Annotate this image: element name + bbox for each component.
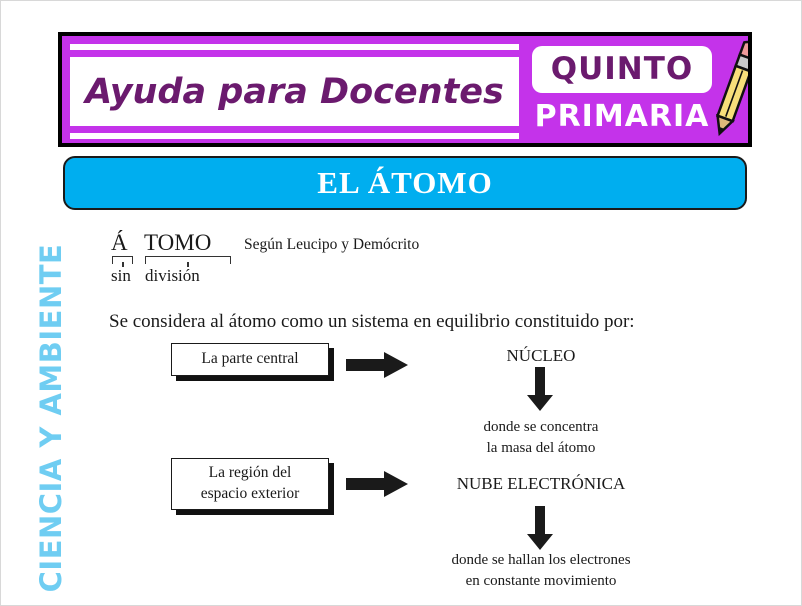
flow-box-region-exterior: La región del espacio exterior: [171, 458, 329, 510]
brand-title: Ayuda para Docentes: [70, 44, 519, 139]
intro-text: Se considera al átomo como un sistema en…: [109, 311, 635, 333]
flow-box-parte-central: La parte central: [171, 343, 329, 376]
caption-line-2: en constante movimiento: [401, 571, 681, 592]
caption-line-2: la masa del átomo: [421, 438, 661, 459]
etymology-gloss-root: división: [145, 267, 200, 284]
brand-plate: Ayuda para Docentes: [70, 44, 519, 139]
etymology-group: Á TOMO sin división: [111, 231, 236, 283]
flow-box-line-2: espacio exterior: [201, 484, 300, 505]
node-label-nube-electronica: NUBE ELECTRÓNICA: [441, 474, 641, 494]
etymology-note: Según Leucipo y Demócrito: [244, 236, 419, 254]
grade-main-label: QUINTO: [551, 54, 694, 85]
grade-pill: QUINTO: [532, 46, 712, 93]
node-label-nucleo: NÚCLEO: [441, 346, 641, 366]
caption-line-1: donde se concentra: [421, 417, 661, 438]
grade-sub-label: PRIMARIA: [526, 94, 718, 140]
page-title-bar: EL ÁTOMO: [63, 156, 747, 210]
flow-box-line-1: La región del: [201, 463, 300, 484]
node-caption-nube-electronica: donde se hallan los electrones en consta…: [401, 550, 681, 592]
header-banner: Ayuda para Docentes QUINTO PRIMARIA: [58, 32, 752, 147]
page-title: EL ÁTOMO: [317, 165, 492, 201]
etymology-root: TOMO: [144, 231, 211, 254]
etymology-prefix: Á: [111, 231, 128, 254]
etymology-gloss-prefix: sin: [111, 267, 131, 284]
node-caption-nucleo: donde se concentra la masa del átomo: [421, 417, 661, 459]
subject-side-label: CIENCIA Y AMBIENTE: [34, 238, 68, 598]
caption-line-1: donde se hallan los electrones: [401, 550, 681, 571]
arrow-right-icon: [346, 352, 408, 378]
arrow-down-icon: [527, 506, 553, 550]
arrow-right-icon: [346, 471, 408, 497]
arrow-down-icon: [527, 367, 553, 411]
worksheet-page: Ayuda para Docentes QUINTO PRIMARIA: [0, 0, 802, 606]
pencil-icon: [702, 38, 752, 147]
